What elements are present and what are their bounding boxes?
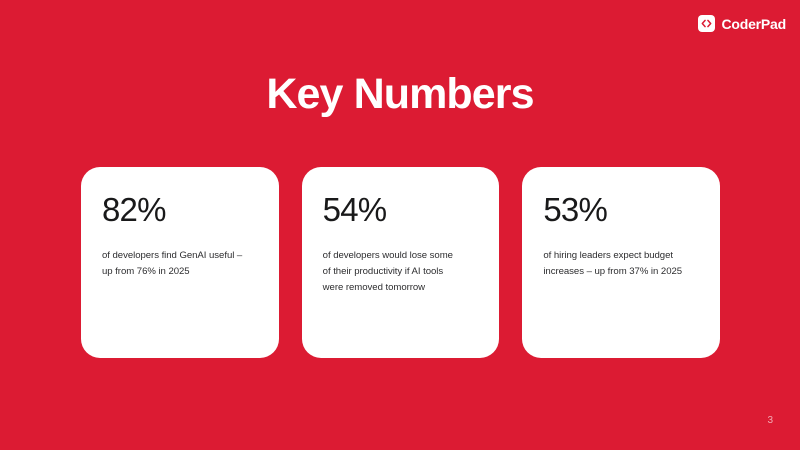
brand-wordmark: CoderPad	[721, 17, 786, 31]
stat-value: 54%	[323, 193, 479, 226]
page-title: Key Numbers	[0, 70, 800, 119]
stat-card: 82% of developers find GenAI useful – up…	[81, 167, 279, 358]
stat-description: of developers would lose some of their p…	[323, 248, 479, 295]
stat-card-group: 82% of developers find GenAI useful – up…	[81, 167, 720, 358]
stat-value: 53%	[543, 193, 699, 226]
stat-value: 82%	[102, 193, 258, 226]
slide: CoderPad Key Numbers 82% of developers f…	[0, 0, 800, 450]
stat-card: 53% of hiring leaders expect budget incr…	[522, 167, 720, 358]
page-number: 3	[767, 416, 773, 426]
stat-card: 54% of developers would lose some of the…	[302, 167, 500, 358]
stat-description: of hiring leaders expect budget increase…	[543, 248, 699, 280]
coderpad-code-brackets-icon	[698, 15, 715, 32]
stat-description: of developers find GenAI useful – up fro…	[102, 248, 258, 280]
brand-logo: CoderPad	[698, 15, 786, 32]
